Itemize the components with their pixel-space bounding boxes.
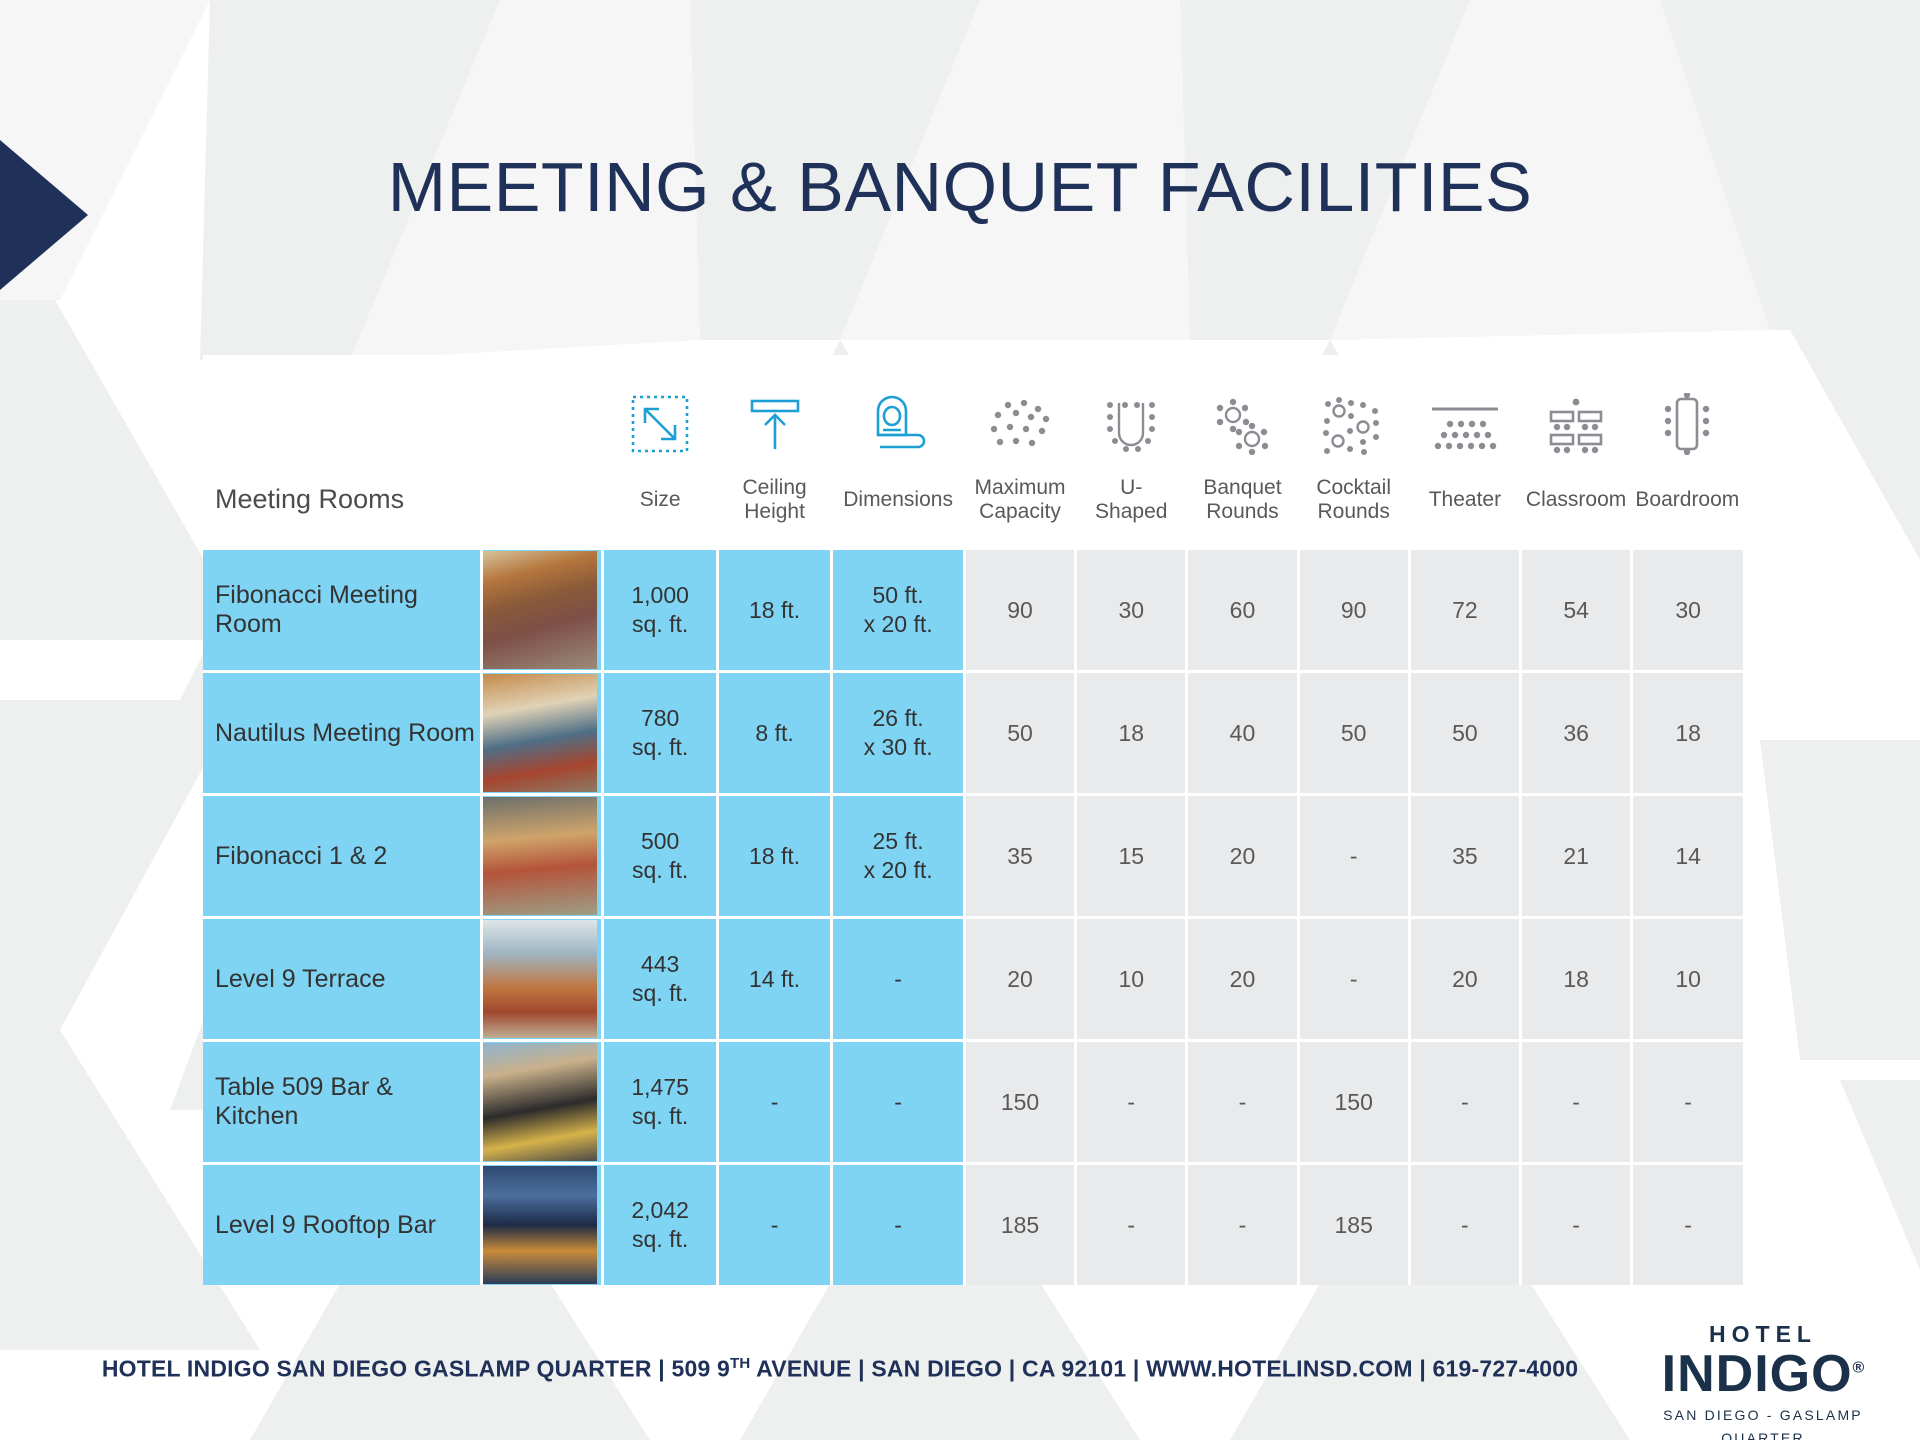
cell-banquet-rounds: - (1187, 1164, 1298, 1286)
facilities-table-container: Meeting Rooms Size CeilingHeight Dimensi… (203, 355, 1743, 1285)
icon-cell-u-shaped (1076, 355, 1187, 464)
cell-theater: 35 (1409, 795, 1520, 918)
cell-maximum-capacity: 185 (964, 1164, 1075, 1286)
cell-ceiling-height: 18 ft. (717, 550, 831, 672)
cell-ceiling-height: - (717, 1041, 831, 1164)
column-header-size: Size (603, 464, 717, 550)
hotel-indigo-logo: HOTEL INDIGO® SAN DIEGO - GASLAMP QUARTE… (1648, 1322, 1878, 1440)
icon-cell-classroom (1521, 355, 1632, 464)
logo-registered-mark: ® (1853, 1360, 1865, 1377)
cell-banquet-rounds: - (1187, 1041, 1298, 1164)
cell-boardroom: 30 (1632, 550, 1743, 672)
cell-banquet-rounds: 20 (1187, 918, 1298, 1041)
cell-room-name: Table 509 Bar & Kitchen (203, 1041, 481, 1164)
cell-size-value: 500 (641, 828, 679, 854)
cell-size-unit: sq. ft. (632, 734, 688, 760)
cell-theater: 50 (1409, 672, 1520, 795)
cell-size-unit: sq. ft. (632, 857, 688, 883)
cocktail-rounds-icon (1321, 397, 1387, 455)
cell-size: 443sq. ft. (603, 918, 717, 1041)
column-header-boardroom: Boardroom (1632, 464, 1743, 550)
level-9-terrace-photo (483, 920, 597, 1038)
table-509-bar-and-kitchen-photo (483, 1043, 597, 1161)
footer-ordinal-suffix: TH (730, 1355, 750, 1372)
table-row: Level 9 Terrace443sq. ft.14 ft.-201020-2… (203, 918, 1743, 1041)
icon-cell-banquet-rounds (1187, 355, 1298, 464)
footer-part-2: AVENUE | SAN DIEGO | CA 92101 | WWW.HOTE… (750, 1356, 1578, 1382)
cell-size-value: 1,000 (631, 582, 689, 608)
cell-banquet-rounds: 40 (1187, 672, 1298, 795)
cell-dimensions-line-1: 50 ft. (873, 582, 924, 608)
cell-classroom: 54 (1521, 550, 1632, 672)
cell-dimensions: - (832, 1041, 965, 1164)
facilities-table: Meeting Rooms Size CeilingHeight Dimensi… (203, 355, 1743, 1285)
table-row: Nautilus Meeting Room780sq. ft.8 ft.26 f… (203, 672, 1743, 795)
cell-size-unit: sq. ft. (632, 1226, 688, 1252)
cell-size: 500sq. ft. (603, 795, 717, 918)
cell-dimensions-line-2: x 30 ft. (864, 734, 933, 760)
cell-size-unit: sq. ft. (632, 1103, 688, 1129)
cell-room-photo (481, 795, 603, 918)
cell-dimensions-line-1: - (894, 1212, 902, 1238)
cell-cocktail-rounds: 150 (1298, 1041, 1409, 1164)
banquet-rounds-icon (1211, 397, 1273, 455)
classroom-desks-icon (1543, 397, 1609, 455)
column-header-u-shaped: U-Shaped (1076, 464, 1187, 550)
floor-plan-roll-icon (866, 393, 930, 455)
cell-dimensions: - (832, 1164, 965, 1286)
icon-cell-size (603, 355, 717, 464)
cell-room-name: Nautilus Meeting Room (203, 672, 481, 795)
cell-u-shaped: 30 (1076, 550, 1187, 672)
cell-ceiling-height: 8 ft. (717, 672, 831, 795)
cell-classroom: - (1521, 1164, 1632, 1286)
level-9-rooftop-bar-photo (483, 1166, 597, 1284)
icon-cell-photo (481, 355, 603, 464)
cell-boardroom: 18 (1632, 672, 1743, 795)
cell-boardroom: - (1632, 1041, 1743, 1164)
cell-classroom: - (1521, 1041, 1632, 1164)
column-header-meeting-rooms: Meeting Rooms (203, 464, 481, 550)
column-header-theater: Theater (1409, 464, 1520, 550)
cell-boardroom: 14 (1632, 795, 1743, 918)
table-row: Fibonacci 1 & 2500sq. ft.18 ft.25 ft.x 2… (203, 795, 1743, 918)
cell-u-shaped: 18 (1076, 672, 1187, 795)
cell-dimensions: 50 ft.x 20 ft. (832, 550, 965, 672)
cell-size: 2,042sq. ft. (603, 1164, 717, 1286)
nautilus-meeting-room-photo (483, 674, 597, 792)
table-row: Fibonacci Meeting Room1,000sq. ft.18 ft.… (203, 550, 1743, 672)
cell-ceiling-height: 14 ft. (717, 918, 831, 1041)
cell-dimensions-line-1: 26 ft. (873, 705, 924, 731)
cell-size-value: 2,042 (631, 1197, 689, 1223)
cell-cocktail-rounds: - (1298, 918, 1409, 1041)
cell-size-value: 1,475 (631, 1074, 689, 1100)
cell-ceiling-height: 18 ft. (717, 795, 831, 918)
cell-maximum-capacity: 90 (964, 550, 1075, 672)
cell-classroom: 21 (1521, 795, 1632, 918)
cell-dimensions: 26 ft.x 30 ft. (832, 672, 965, 795)
cell-room-name: Fibonacci Meeting Room (203, 550, 481, 672)
cell-u-shaped: 15 (1076, 795, 1187, 918)
u-shape-table-icon (1105, 397, 1157, 455)
cell-maximum-capacity: 35 (964, 795, 1075, 918)
cell-ceiling-height: - (717, 1164, 831, 1286)
cell-dimensions-line-2: x 20 ft. (864, 611, 933, 637)
cell-maximum-capacity: 20 (964, 918, 1075, 1041)
footer-part-1: HOTEL INDIGO SAN DIEGO GASLAMP QUARTER |… (102, 1356, 730, 1382)
cell-u-shaped: - (1076, 1041, 1187, 1164)
cell-room-name: Fibonacci 1 & 2 (203, 795, 481, 918)
column-header-dimensions: Dimensions (832, 464, 965, 550)
footer-contact-line: HOTEL INDIGO SAN DIEGO GASLAMP QUARTER |… (0, 1355, 1680, 1383)
resize-diagonal-icon (629, 393, 691, 455)
cell-room-photo (481, 550, 603, 672)
cell-banquet-rounds: 60 (1187, 550, 1298, 672)
column-header-maximum-capacity: MaximumCapacity (964, 464, 1075, 550)
cell-dimensions: - (832, 918, 965, 1041)
fibonacci-1-and-2-photo (483, 797, 597, 915)
cell-room-photo (481, 1041, 603, 1164)
cell-classroom: 18 (1521, 918, 1632, 1041)
logo-hotel-word: HOTEL (1648, 1322, 1878, 1347)
icon-cell-dimensions (832, 355, 965, 464)
cell-size-unit: sq. ft. (632, 611, 688, 637)
icon-cell-cocktail-rounds (1298, 355, 1409, 464)
cell-size: 780sq. ft. (603, 672, 717, 795)
column-header-ceiling-height: CeilingHeight (717, 464, 831, 550)
cell-dimensions-line-1: 25 ft. (873, 828, 924, 854)
cell-cocktail-rounds: 185 (1298, 1164, 1409, 1286)
cell-theater: 20 (1409, 918, 1520, 1041)
cell-dimensions-line-2: x 20 ft. (864, 857, 933, 883)
table-label-header-row: Meeting Rooms Size CeilingHeight Dimensi… (203, 464, 1743, 550)
facilities-table-body: Fibonacci Meeting Room1,000sq. ft.18 ft.… (203, 550, 1743, 1285)
cell-dimensions: 25 ft.x 20 ft. (832, 795, 965, 918)
cell-dimensions-line-1: - (894, 1089, 902, 1115)
cell-size: 1,475sq. ft. (603, 1041, 717, 1164)
logo-subtitle-line-1: SAN DIEGO - GASLAMP (1648, 1406, 1878, 1426)
column-header-banquet-rounds: BanquetRounds (1187, 464, 1298, 550)
cell-theater: - (1409, 1164, 1520, 1286)
logo-indigo-word: INDIGO® (1662, 1347, 1865, 1402)
cell-dimensions-line-1: - (894, 966, 902, 992)
icon-cell-ceiling-height (717, 355, 831, 464)
column-header-classroom: Classroom (1521, 464, 1632, 550)
icon-cell-room (203, 355, 481, 464)
cell-cocktail-rounds: 90 (1298, 550, 1409, 672)
cell-banquet-rounds: 20 (1187, 795, 1298, 918)
cell-theater: - (1409, 1041, 1520, 1164)
icon-cell-boardroom (1632, 355, 1743, 464)
column-header-photo (481, 464, 603, 550)
page-title: MEETING & BANQUET FACILITIES (0, 152, 1920, 222)
column-header-cocktail-rounds: CocktailRounds (1298, 464, 1409, 550)
table-row: Table 509 Bar & Kitchen1,475sq. ft.--150… (203, 1041, 1743, 1164)
fibonacci-meeting-room-photo (483, 551, 597, 669)
cell-room-photo (481, 672, 603, 795)
cell-boardroom: 10 (1632, 918, 1743, 1041)
boardroom-table-icon (1662, 393, 1712, 455)
cell-classroom: 36 (1521, 672, 1632, 795)
logo-subtitle-line-2: QUARTER (1648, 1429, 1878, 1440)
cell-size-value: 443 (641, 951, 679, 977)
cell-cocktail-rounds: 50 (1298, 672, 1409, 795)
cell-boardroom: - (1632, 1164, 1743, 1286)
cell-u-shaped: - (1076, 1164, 1187, 1286)
crowd-dots-icon (986, 397, 1054, 455)
table-icon-header-row (203, 355, 1743, 464)
slide-canvas: MEETING & BANQUET FACILITIES (0, 0, 1920, 1440)
cell-cocktail-rounds: - (1298, 795, 1409, 918)
icon-cell-maximum-capacity (964, 355, 1075, 464)
table-row: Level 9 Rooftop Bar2,042sq. ft.--185--18… (203, 1164, 1743, 1286)
cell-size-unit: sq. ft. (632, 980, 688, 1006)
cell-room-photo (481, 918, 603, 1041)
theater-seating-icon (1428, 399, 1502, 455)
cell-room-photo (481, 1164, 603, 1286)
cell-size: 1,000sq. ft. (603, 550, 717, 672)
ceiling-height-arrow-icon (744, 393, 806, 455)
cell-u-shaped: 10 (1076, 918, 1187, 1041)
logo-indigo-text: INDIGO (1662, 1345, 1853, 1403)
cell-maximum-capacity: 150 (964, 1041, 1075, 1164)
cell-room-name: Level 9 Terrace (203, 918, 481, 1041)
cell-size-value: 780 (641, 705, 679, 731)
icon-cell-theater (1409, 355, 1520, 464)
cell-theater: 72 (1409, 550, 1520, 672)
cell-maximum-capacity: 50 (964, 672, 1075, 795)
cell-room-name: Level 9 Rooftop Bar (203, 1164, 481, 1286)
